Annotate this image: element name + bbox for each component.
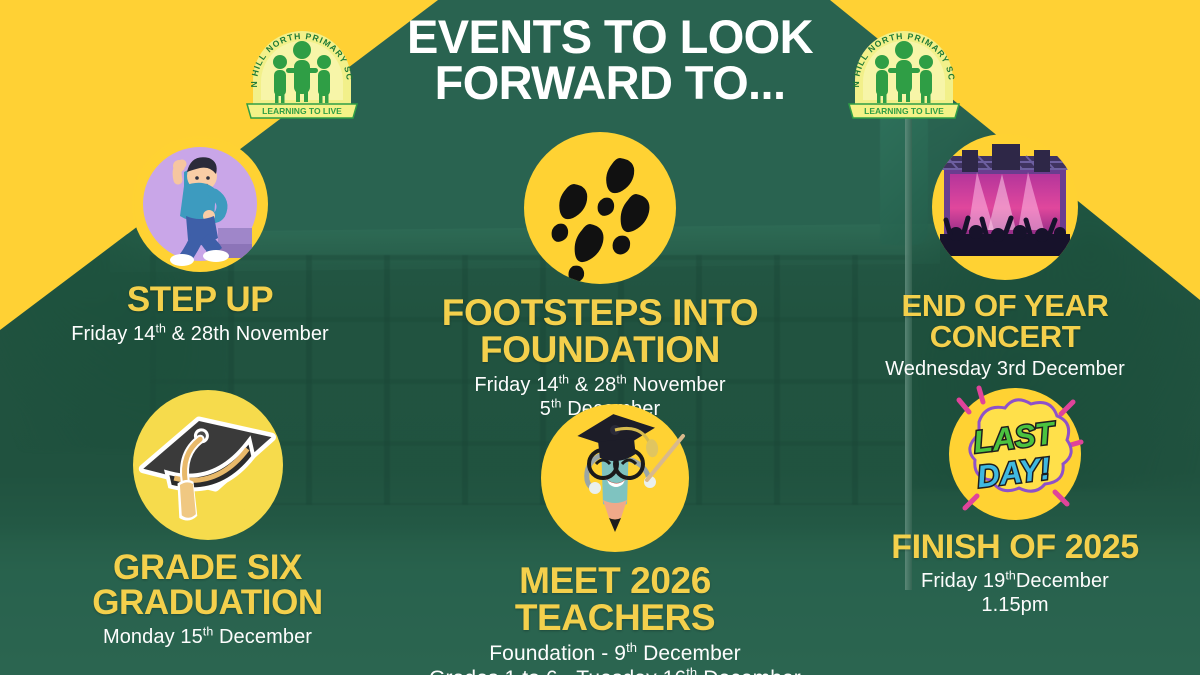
event-title-line: TEACHERS <box>390 599 840 636</box>
event-grade-six-graduation: GRADE SIX GRADUATION Monday 15th Decembe… <box>35 390 380 649</box>
footprints-icon <box>524 132 676 284</box>
event-date-line: Friday 14th & 28th November <box>30 322 370 346</box>
poster-canvas: LEARNING TO LIVE SWAN HILL NORTH PRIMARY… <box>0 0 1200 675</box>
event-date-line: Monday 15th December <box>35 625 380 649</box>
event-title-line: END OF YEAR <box>835 290 1175 321</box>
event-title-line: GRADE SIX <box>35 550 380 585</box>
event-date-line: Foundation - 9th December <box>390 641 840 666</box>
event-date: Friday 19thDecember 1.15pm <box>840 569 1190 617</box>
event-date: Monday 15th December <box>35 625 380 649</box>
events-grid: STEP UP Friday 14th & 28th November <box>0 0 1200 675</box>
event-title: MEET 2026 TEACHERS <box>390 562 840 636</box>
event-date-line: 1.15pm <box>840 593 1190 617</box>
event-title-line: CONCERT <box>835 321 1175 352</box>
event-meet-2026-teachers: MEET 2026 TEACHERS Foundation - 9th Dece… <box>390 404 840 675</box>
pencil-teacher-icon <box>541 404 689 552</box>
event-title-line: FINISH OF 2025 <box>840 530 1190 564</box>
event-title: END OF YEAR CONCERT <box>835 290 1175 352</box>
event-finish-of-2025: LAST DAY! FINISH OF 2025 Friday 19thDece… <box>840 388 1190 617</box>
last-day-burst-icon: LAST DAY! <box>949 388 1081 520</box>
event-date-line: Friday 14th & 28th November <box>425 373 775 397</box>
event-title-line: MEET 2026 <box>390 562 840 599</box>
event-title-line: STEP UP <box>30 282 370 317</box>
event-step-up: STEP UP Friday 14th & 28th November <box>30 136 370 346</box>
event-title-line: FOOTSTEPS INTO <box>425 294 775 331</box>
event-date: Foundation - 9th December Grades 1 to 6 … <box>390 641 840 675</box>
event-date: Wednesday 3rd December <box>835 357 1175 381</box>
event-title-line: GRADUATION <box>35 585 380 620</box>
event-footsteps-into-foundation: FOOTSTEPS INTO FOUNDATION Friday 14th & … <box>425 132 775 421</box>
event-title: FOOTSTEPS INTO FOUNDATION <box>425 294 775 368</box>
event-date-line: Friday 19thDecember <box>840 569 1190 593</box>
event-title: GRADE SIX GRADUATION <box>35 550 380 620</box>
event-title: STEP UP <box>30 282 370 317</box>
event-title: FINISH OF 2025 <box>840 530 1190 564</box>
event-end-of-year-concert: END OF YEAR CONCERT Wednesday 3rd Decemb… <box>835 134 1175 381</box>
event-title-line: FOUNDATION <box>425 331 775 368</box>
event-date-line: Wednesday 3rd December <box>835 357 1175 381</box>
event-date: Friday 14th & 28th November <box>30 322 370 346</box>
concert-stage-icon <box>932 134 1078 280</box>
graduation-cap-icon <box>133 390 283 540</box>
event-date-line: Grades 1 to 6 - Tuesday 16th December <box>390 666 840 675</box>
child-stepping-up-icon <box>132 136 268 272</box>
